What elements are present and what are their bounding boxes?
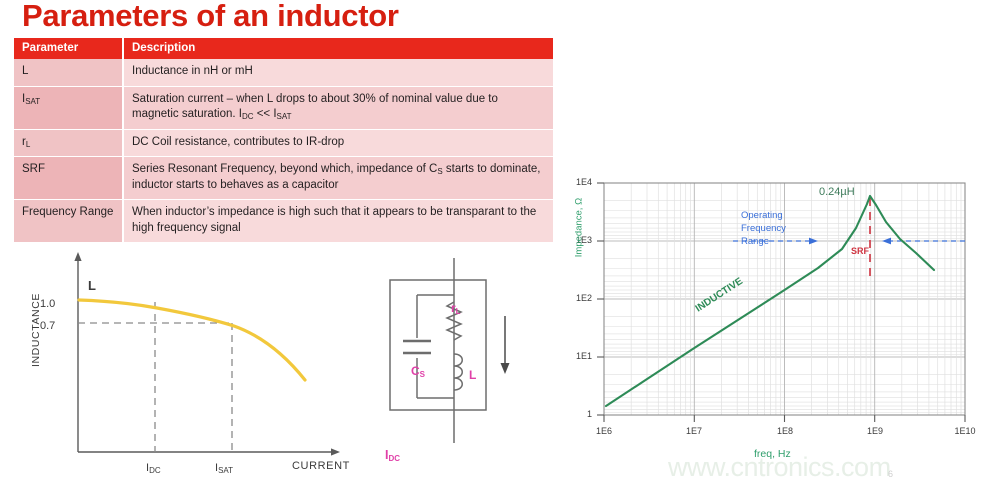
inductance-chart-svg: [0, 250, 380, 483]
cell-parameter-l: L: [14, 59, 123, 86]
rc-xtick-1e6: 1E6: [587, 426, 621, 436]
cell-parameter-isat: ISAT: [14, 86, 123, 129]
cell-description-freq-range: When inductor’s impedance is high such t…: [123, 200, 553, 243]
cell-description-rl: DC Coil resistance, contributes to IR-dr…: [123, 129, 553, 157]
rc-xtick-1e9: 1E9: [858, 426, 892, 436]
rc-ytick-1: 1: [566, 409, 592, 419]
left-chart-xlabel: CURRENT: [292, 460, 350, 472]
cell-parameter-rl: rL: [14, 129, 123, 157]
inductor-equivalent-circuit: rL CS L IDC: [385, 258, 560, 443]
cell-description-isat: Saturation current – when L drops to abo…: [123, 86, 553, 129]
table-header-row: Parameter Description: [14, 38, 553, 59]
circuit-label-rl: rL: [451, 301, 461, 315]
left-chart-ytick-1: 1.0: [40, 298, 55, 310]
impedance-chart-svg: INDUCTIVE: [556, 160, 981, 445]
inductance-vs-current-chart: INDUCTANCE CURRENT 1.0 0.7 L IDC ISAT: [0, 250, 380, 483]
rc-xtick-1e7: 1E7: [677, 426, 711, 436]
y-axis-ticks: [597, 183, 604, 415]
slide-root: Parameters of an inductor Parameter Desc…: [0, 0, 981, 483]
rc-xtick-1e8: 1E8: [768, 426, 802, 436]
left-chart-xtick-idc: IDC: [146, 462, 161, 474]
rc-ytick-1e1: 1E1: [566, 351, 592, 361]
operating-frequency-range-label: Operating Frequency Range: [741, 210, 786, 248]
cell-parameter-srf: SRF: [14, 157, 123, 200]
inductance-curve: [79, 300, 305, 380]
rc-ytick-1e2: 1E2: [566, 293, 592, 303]
x-axis-arrow: [331, 448, 340, 455]
impedance-vs-frequency-chart: INDUCTIVE 1E4 1E3 1E2 1E1 1 1E6 1E7 1E8 …: [556, 160, 981, 483]
table-row: ISAT Saturation current – when L drops t…: [14, 86, 553, 129]
y-axis-arrow: [74, 252, 81, 261]
cell-description-srf: Series Resonant Frequency, beyond which,…: [123, 157, 553, 200]
column-header-parameter: Parameter: [14, 38, 123, 59]
ofr-line-1: Operating: [741, 210, 786, 223]
peak-value-label: 0.24µH: [819, 186, 855, 198]
inductor-l-symbol: [454, 354, 462, 390]
table-row: rL DC Coil resistance, contributes to IR…: [14, 129, 553, 157]
ofr-line-3: Range: [741, 236, 786, 249]
rc-xtick-1e10: 1E10: [948, 426, 981, 436]
circuit-outer-box: [390, 280, 486, 410]
ofr-line-2: Frequency: [741, 223, 786, 236]
left-chart-xtick-isat: ISAT: [215, 462, 233, 474]
x-axis-ticks: [604, 415, 965, 422]
circuit-svg: [385, 258, 560, 443]
rc-ylabel: Impedance, Ω: [574, 173, 585, 283]
left-chart-curve-label: L: [88, 278, 96, 293]
circuit-label-cs: CS: [411, 364, 425, 378]
page-number: 6: [888, 469, 893, 479]
page-title: Parameters of an inductor: [22, 0, 399, 34]
circuit-label-idc: IDC: [385, 448, 560, 462]
table-row: L Inductance in nH or mH: [14, 59, 553, 86]
cell-parameter-freq-range: Frequency Range: [14, 200, 123, 243]
site-watermark: www.cntronics.com: [668, 452, 891, 483]
idc-arrow-head: [501, 363, 510, 374]
cell-description-l: Inductance in nH or mH: [123, 59, 553, 86]
column-header-description: Description: [123, 38, 553, 59]
srf-label: SRF: [851, 246, 869, 256]
circuit-label-l: L: [469, 368, 476, 382]
parameters-table: Parameter Description L Inductance in nH…: [14, 38, 553, 243]
table-row: Frequency Range When inductor’s impedanc…: [14, 200, 553, 243]
table-row: SRF Series Resonant Frequency, beyond wh…: [14, 157, 553, 200]
left-chart-ytick-2: 0.7: [40, 320, 55, 332]
